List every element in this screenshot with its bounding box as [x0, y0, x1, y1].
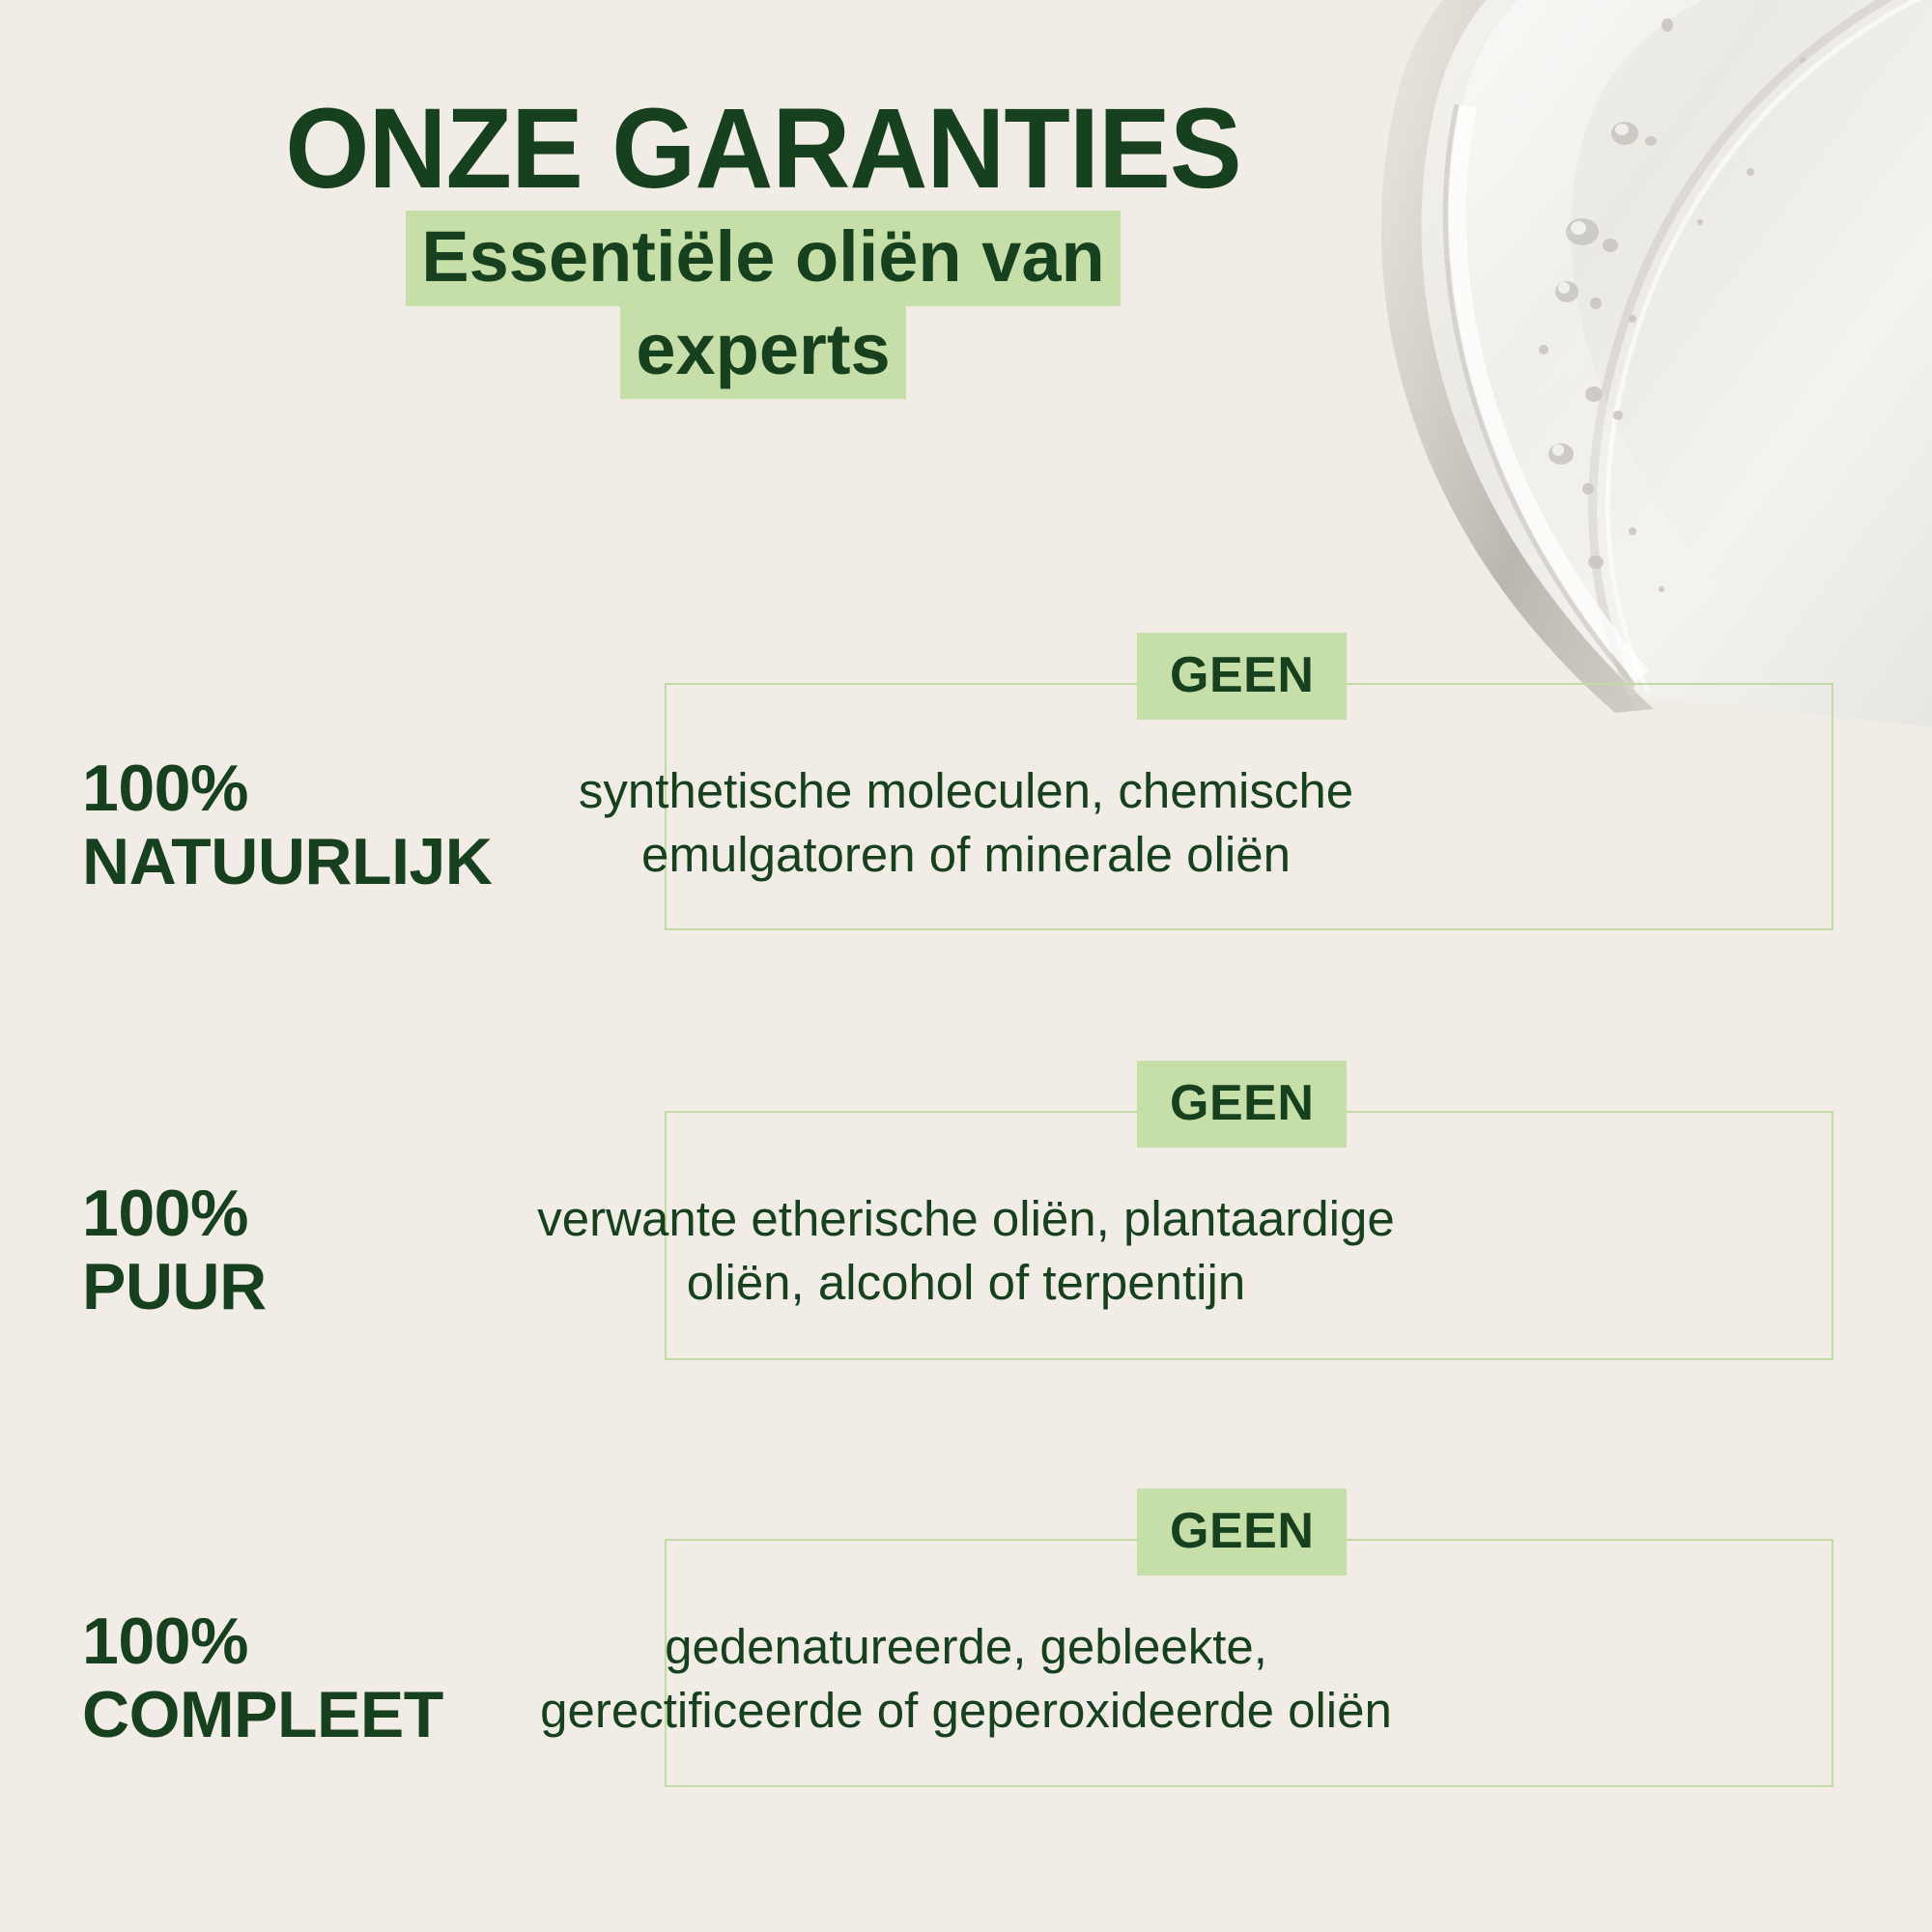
guarantee-text-line-2: gerectificeerde of geperoxideerde oliën	[540, 1683, 1392, 1738]
subtitle-line-2: experts	[620, 303, 905, 399]
guarantee-text-compleet: gedenatureerde, gebleekte, gerectificeer…	[0, 1615, 1932, 1744]
status-badge-geen-2: GEEN	[1137, 1061, 1347, 1148]
page-subtitle: Essentiële oliën van experts	[0, 211, 1526, 396]
guarantee-text-line-2: oliën, alcohol of terpentijn	[687, 1255, 1245, 1310]
poster-canvas: ONZE GARANTIES Essentiële oliën van expe…	[0, 0, 1932, 1932]
status-badge-geen-1: GEEN	[1137, 633, 1347, 720]
guarantee-text-line-1: synthetische moleculen, chemische	[579, 763, 1353, 818]
subtitle-line-1: Essentiële oliën van	[406, 211, 1120, 306]
guarantee-text-line-2: emulgatoren of minerale oliën	[641, 827, 1291, 882]
guarantee-text-puur: verwante etherische oliën, plantaardige …	[0, 1187, 1932, 1316]
status-badge-geen-3: GEEN	[1137, 1489, 1347, 1576]
guarantee-text-line-1: gedenatureerde, gebleekte,	[665, 1619, 1267, 1674]
guarantee-text-line-1: verwante etherische oliën, plantaardige	[537, 1191, 1394, 1246]
page-title: ONZE GARANTIES	[39, 92, 1489, 206]
guarantee-text-natuurlijk: synthetische moleculen, chemische emulga…	[0, 759, 1932, 888]
